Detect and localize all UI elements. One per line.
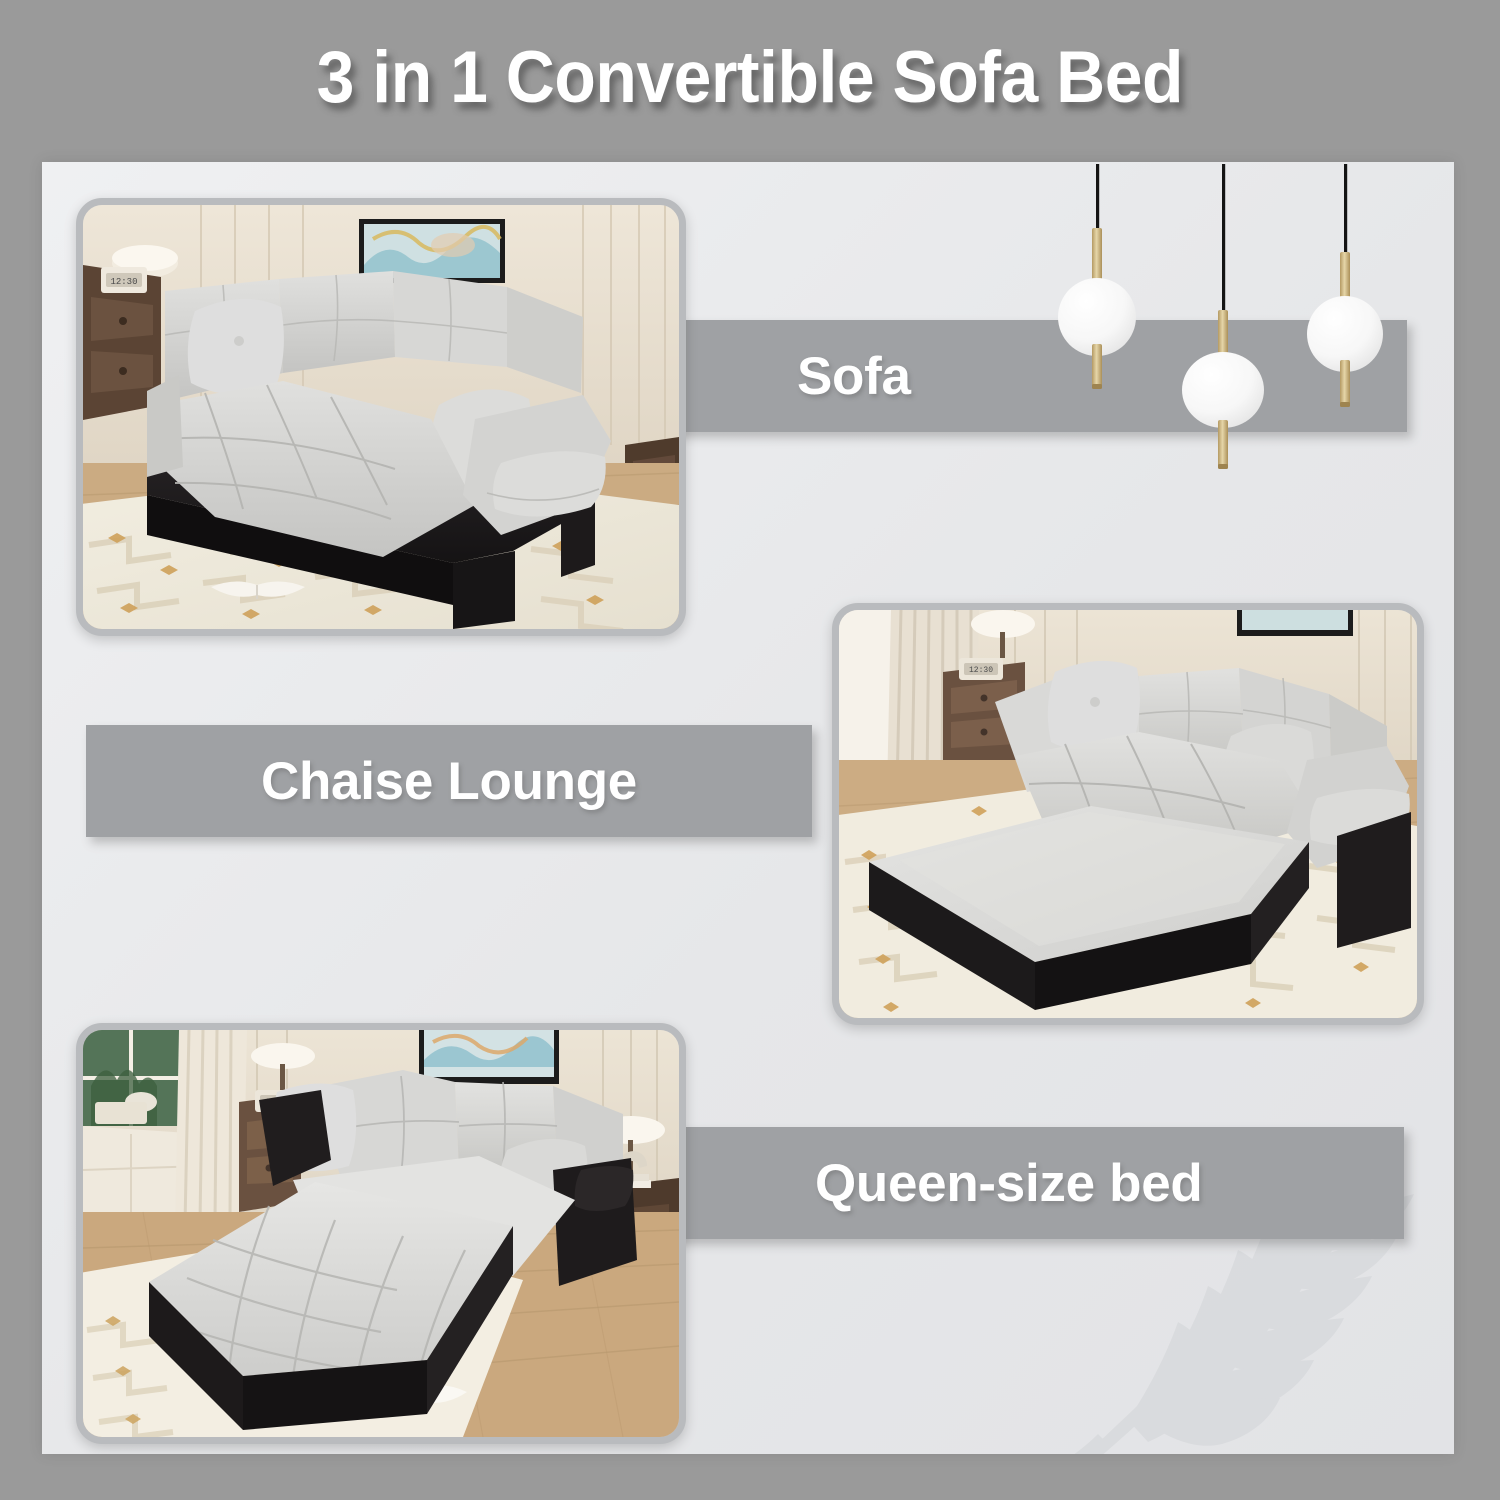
label-sofa: Sofa — [797, 346, 911, 407]
product-infographic-poster: 3 in 1 Convertible Sofa Bed — [0, 0, 1500, 1500]
svg-text:12:30: 12:30 — [110, 277, 137, 287]
sofa-configuration-photo: 12:30 — [76, 198, 686, 636]
queen-size-bed-configuration-photo: 12:30 — [76, 1023, 686, 1444]
label-chaise-lounge: Chaise Lounge — [261, 751, 637, 812]
label-banner-queen-size-bed: Queen-size bed — [670, 1127, 1404, 1239]
label-banner-sofa: Sofa — [672, 320, 1407, 432]
page-title: 3 in 1 Convertible Sofa Bed — [317, 36, 1183, 119]
chaise-lounge-configuration-photo: 12:30 — [832, 603, 1424, 1025]
svg-text:12:30: 12:30 — [969, 666, 993, 675]
label-banner-chaise-lounge: Chaise Lounge — [86, 725, 812, 837]
label-queen-size-bed: Queen-size bed — [815, 1153, 1203, 1214]
poster-title-bar: 3 in 1 Convertible Sofa Bed — [0, 0, 1500, 155]
content-panel: 12:30 — [42, 162, 1454, 1454]
